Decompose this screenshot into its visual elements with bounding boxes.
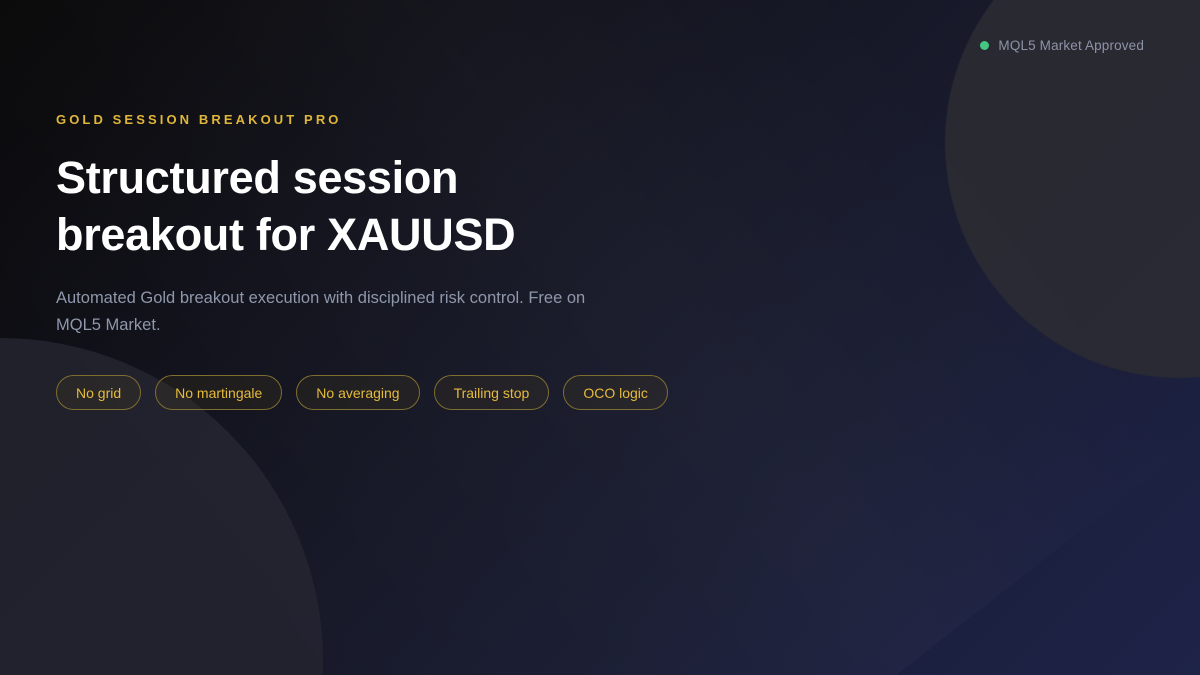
hero-section: MQL5 Market Approved GOLD SESSION BREAKO… bbox=[0, 0, 1200, 675]
feature-pill-no-martingale[interactable]: No martingale bbox=[155, 375, 282, 410]
status-dot-icon bbox=[980, 41, 989, 50]
feature-pill-no-grid[interactable]: No grid bbox=[56, 375, 141, 410]
feature-pill-no-averaging[interactable]: No averaging bbox=[296, 375, 419, 410]
status-badge-label: MQL5 Market Approved bbox=[998, 38, 1144, 53]
hero-subtitle: Automated Gold breakout execution with d… bbox=[56, 285, 621, 339]
feature-pill-oco-logic[interactable]: OCO logic bbox=[563, 375, 668, 410]
page-title: Structured session breakout for XAUUSD bbox=[56, 149, 656, 263]
decorative-circle-top-right bbox=[945, 0, 1200, 378]
feature-pill-row: No grid No martingale No averaging Trail… bbox=[56, 375, 696, 410]
feature-pill-trailing-stop[interactable]: Trailing stop bbox=[434, 375, 550, 410]
hero-eyebrow: GOLD SESSION BREAKOUT PRO bbox=[56, 112, 696, 127]
hero-content: GOLD SESSION BREAKOUT PRO Structured ses… bbox=[56, 112, 696, 410]
status-badge: MQL5 Market Approved bbox=[980, 38, 1144, 53]
